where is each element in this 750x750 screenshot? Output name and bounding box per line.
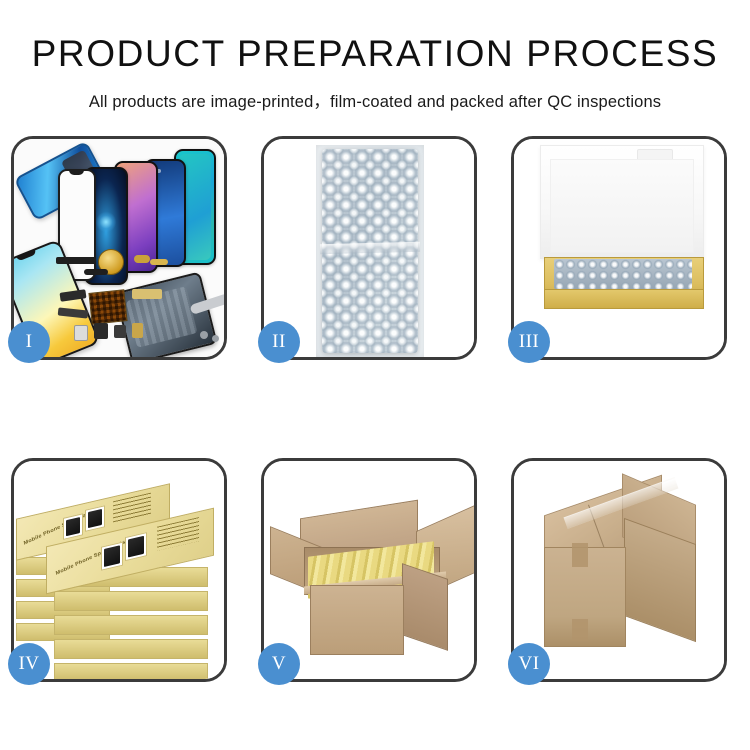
step-badge-2: II <box>258 321 300 363</box>
button-part <box>132 323 143 338</box>
connector-part <box>134 255 150 263</box>
step-badge-6: VI <box>508 643 550 685</box>
carton-hand-hole-top <box>572 543 588 567</box>
kraft-tray-front <box>544 289 704 309</box>
process-step-panel-2[interactable]: II <box>261 136 477 360</box>
carton-side-face <box>402 563 448 651</box>
step-4-image: Mobile Phone Spare Parts M <box>14 461 224 679</box>
process-step-panel-5[interactable]: V <box>261 458 477 682</box>
step-badge-4: IV <box>8 643 50 685</box>
box-window-left <box>63 513 83 540</box>
process-step-panel-6[interactable]: VI <box>511 458 727 682</box>
stacked-boxes-illustration: Mobile Phone Spare Parts M <box>14 461 224 679</box>
step-3-image <box>514 139 724 357</box>
sim-tray-part <box>74 325 88 341</box>
inner-box-illustration <box>514 139 724 357</box>
step-5-image <box>264 461 474 679</box>
flex-cable-part <box>84 269 108 275</box>
flex-cable-part <box>56 257 96 264</box>
step-badge-1: I <box>8 321 50 363</box>
camera-module-part <box>94 323 108 339</box>
page-title: PRODUCT PREPARATION PROCESS <box>0 34 750 75</box>
page-header: PRODUCT PREPARATION PROCESS All products… <box>0 0 750 112</box>
screen-thumbnail <box>88 509 102 528</box>
screw-part <box>200 331 208 339</box>
page-subtitle: All products are image-printed，film-coat… <box>0 88 750 112</box>
screen-thumbnail <box>66 517 80 536</box>
box-window-right <box>85 505 105 532</box>
screen-thumbnail <box>104 545 120 567</box>
gold-flex-part <box>132 289 162 299</box>
screw-part <box>212 335 219 342</box>
screen-thumbnail <box>128 536 144 558</box>
process-step-grid: I II III <box>11 136 739 682</box>
process-step-panel-1[interactable]: I <box>11 136 227 360</box>
carton-hand-hole-bottom <box>572 619 588 641</box>
step-badge-5: V <box>258 643 300 685</box>
box-spec-lines <box>113 493 151 524</box>
step-1-image <box>14 139 224 357</box>
connector-part <box>150 259 168 265</box>
sealed-carton-illustration <box>514 461 724 679</box>
process-step-panel-4[interactable]: Mobile Phone Spare Parts M <box>11 458 227 682</box>
step-6-image <box>514 461 724 679</box>
retail-box-edge <box>54 591 208 611</box>
vibrator-part <box>114 325 126 338</box>
carton-front-face <box>310 585 404 655</box>
box-window-right <box>125 532 147 561</box>
step-badge-3: III <box>508 321 550 363</box>
retail-box-edge <box>54 663 208 679</box>
chip-array-icon <box>88 289 127 325</box>
open-carton-illustration <box>264 461 474 679</box>
process-step-panel-3[interactable]: III <box>511 136 727 360</box>
box-lid-inner-panel <box>550 159 694 253</box>
bubble-wrapped-contents <box>554 259 692 289</box>
bubble-wrap-illustration <box>264 139 474 357</box>
phone-parts-collage-illustration <box>14 139 224 357</box>
phone-backplate-icon <box>114 271 217 357</box>
retail-box-edge <box>54 615 208 635</box>
box-spec-lines <box>157 517 199 551</box>
retail-box-edge <box>54 639 208 659</box>
step-2-image <box>264 139 474 357</box>
box-window-left <box>101 542 123 571</box>
